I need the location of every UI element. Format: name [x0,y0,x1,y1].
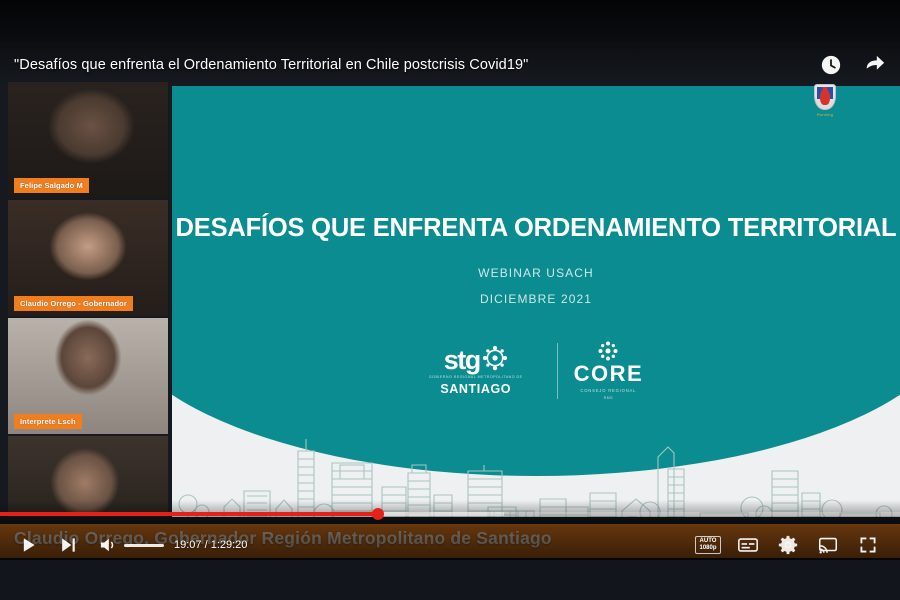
next-video-button[interactable] [48,525,88,565]
city-skyline-illustration [172,432,900,517]
cast-button[interactable] [808,525,848,565]
participant-name-tag: Felipe Salgado M [14,178,89,193]
core-logo: CORE CONSEJO REGIONAL RMS [574,341,644,400]
participant-name-tag: Claudio Orrego - Gobernador [14,296,133,311]
participant-name-tag: Interprete Lsch [14,414,82,429]
slide-logos: stg GOBIERNO REGIONAL MET [172,341,900,400]
participant-tile[interactable]: Felipe Salgado M [8,82,168,198]
core-sub-small-2: RMS [604,396,613,400]
play-button[interactable] [8,525,48,565]
next-icon [58,535,78,555]
coat-of-arms-icon [814,84,836,110]
gear-icon [777,534,799,556]
slide-teal-shape [172,86,900,476]
quality-badge: AUTO 1080p [695,536,720,554]
subtitles-button[interactable] [728,525,768,565]
share-icon[interactable] [864,54,886,76]
participant-tile[interactable]: Claudio Orrego - Gobernador [8,200,168,316]
participant-tile[interactable]: Verónica Yáñez Roma [8,436,168,517]
progress-scrubber-handle[interactable] [372,508,384,520]
regional-emblem-overlay: Running [806,84,844,117]
stg-starburst-icon [482,345,508,371]
watch-later-icon[interactable] [820,54,842,76]
fullscreen-button[interactable] [848,525,888,565]
controls-left: 19:07 / 1:29:20 [0,525,255,565]
play-icon [18,535,38,555]
time-display: 19:07 / 1:29:20 [168,539,255,551]
participant-tile[interactable]: Interprete Lsch [8,318,168,434]
video-stage[interactable]: Felipe Salgado M Claudio Orrego - Gobern… [0,42,900,517]
volume-icon [98,535,118,555]
stg-sub-large: SANTIAGO [440,382,511,396]
quality-badge-button[interactable]: AUTO 1080p [688,525,728,565]
participant-strip: Felipe Salgado M Claudio Orrego - Gobern… [8,82,168,517]
stg-logo: stg GOBIERNO REGIONAL MET [429,345,541,395]
core-sub-small: CONSEJO REGIONAL [580,388,636,393]
slide-title: DESAFÍOS QUE ENFRENTA ORDENAMIENTO TERRI… [172,214,900,243]
fullscreen-icon [858,535,878,555]
slide-subtitle-date: DICIEMBRE 2021 [172,292,900,306]
presentation-slide: DESAFÍOS QUE ENFRENTA ORDENAMIENTO TERRI… [172,86,900,517]
top-actions [820,54,886,76]
cast-icon [817,534,839,556]
settings-button[interactable] [768,525,808,565]
logo-divider [557,343,558,399]
volume-button[interactable] [88,525,128,565]
quality-badge-line2: 1080p [699,545,716,552]
quality-badge-line1: AUTO [699,538,716,545]
emblem-label: Running [806,112,844,117]
controls-right: AUTO 1080p [688,525,900,565]
video-title: "Desafíos que enfrenta el Ordenamiento T… [14,57,528,73]
progress-bar[interactable] [0,512,900,516]
slide-subtitle-webinar: WEBINAR USACH [172,266,900,280]
core-wordmark: CORE [574,363,644,385]
closed-captions-icon [737,534,759,556]
stg-sub-small: GOBIERNO REGIONAL METROPOLITANO DE [429,375,523,380]
control-row: 19:07 / 1:29:20 AUTO 1080p [0,524,900,566]
stg-wordmark: stg [444,348,480,372]
participant-video-feed [8,436,168,517]
core-star-icon [598,341,618,361]
progress-played [0,512,378,516]
youtube-video-player: Felipe Salgado M Claudio Orrego - Gobern… [0,0,900,600]
volume-slider[interactable] [124,544,164,547]
